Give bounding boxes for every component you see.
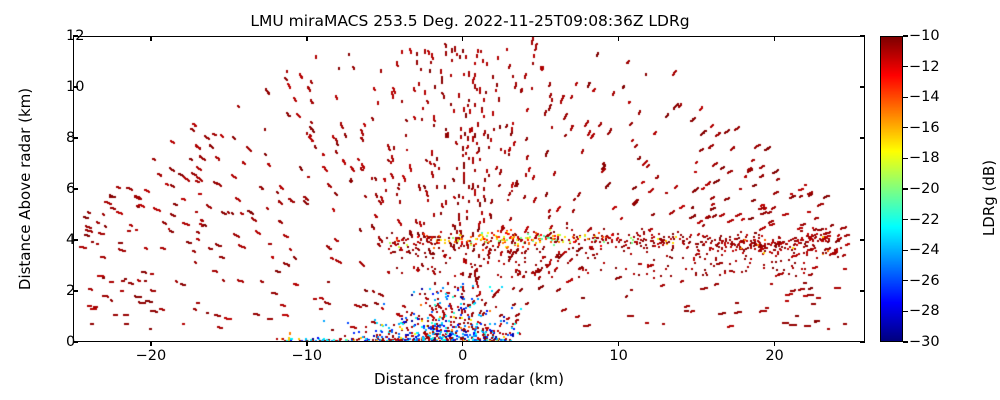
colorbar-tick-label: −28 (909, 303, 940, 319)
colorbar-tick-label: −30 (909, 334, 940, 350)
x-tick (306, 36, 307, 41)
y-tick (860, 239, 865, 240)
colorbar-tick-label: −22 (909, 212, 940, 228)
colorbar-tick (903, 97, 908, 98)
figure: LMU miraMACS 253.5 Deg. 2022-11-25T09:08… (0, 0, 1000, 400)
colorbar-label: LDRg (dB) (980, 88, 998, 308)
colorbar-tick-label: −16 (909, 120, 940, 136)
x-tick-label: 10 (609, 348, 627, 364)
y-tick (860, 290, 865, 291)
colorbar-tick (903, 311, 908, 312)
x-tick-label: 0 (458, 348, 467, 364)
colorbar (880, 36, 903, 342)
x-tick (774, 341, 775, 346)
x-tick (462, 36, 463, 41)
colorbar-tick-label: −14 (909, 89, 940, 105)
y-tick (860, 137, 865, 138)
y-tick (860, 86, 865, 87)
colorbar-tick-label: −20 (909, 181, 940, 197)
y-tick (860, 341, 865, 342)
colorbar-tick-label: −18 (909, 150, 940, 166)
colorbar-tick-label: −26 (909, 273, 940, 289)
x-tick (306, 341, 307, 346)
y-tick (860, 188, 865, 189)
chart-title: LMU miraMACS 253.5 Deg. 2022-11-25T09:08… (0, 12, 940, 30)
colorbar-tick (903, 66, 908, 67)
y-tick (860, 35, 865, 36)
x-tick-label: 20 (765, 348, 783, 364)
colorbar-tick (903, 35, 908, 36)
colorbar-tick (903, 127, 908, 128)
x-tick (150, 341, 151, 346)
colorbar-tick (903, 250, 908, 251)
x-tick (774, 36, 775, 41)
colorbar-tick-label: −10 (909, 28, 940, 44)
colorbar-tick-label: −24 (909, 242, 940, 258)
colorbar-gradient (881, 37, 902, 341)
scatter-canvas (74, 37, 865, 342)
x-tick-label: −10 (292, 348, 323, 364)
x-axis-label: Distance from radar (km) (73, 370, 865, 388)
x-tick (150, 36, 151, 41)
x-tick (462, 341, 463, 346)
colorbar-tick-label: −12 (909, 59, 940, 75)
colorbar-tick (903, 280, 908, 281)
x-tick (618, 36, 619, 41)
colorbar-tick (903, 219, 908, 220)
x-tick (618, 341, 619, 346)
x-tick-label: −20 (136, 348, 167, 364)
colorbar-tick (903, 188, 908, 189)
colorbar-tick (903, 158, 908, 159)
y-axis-label: Distance Above radar (km) (16, 79, 34, 299)
plot-area (73, 36, 865, 342)
colorbar-tick (903, 341, 908, 342)
